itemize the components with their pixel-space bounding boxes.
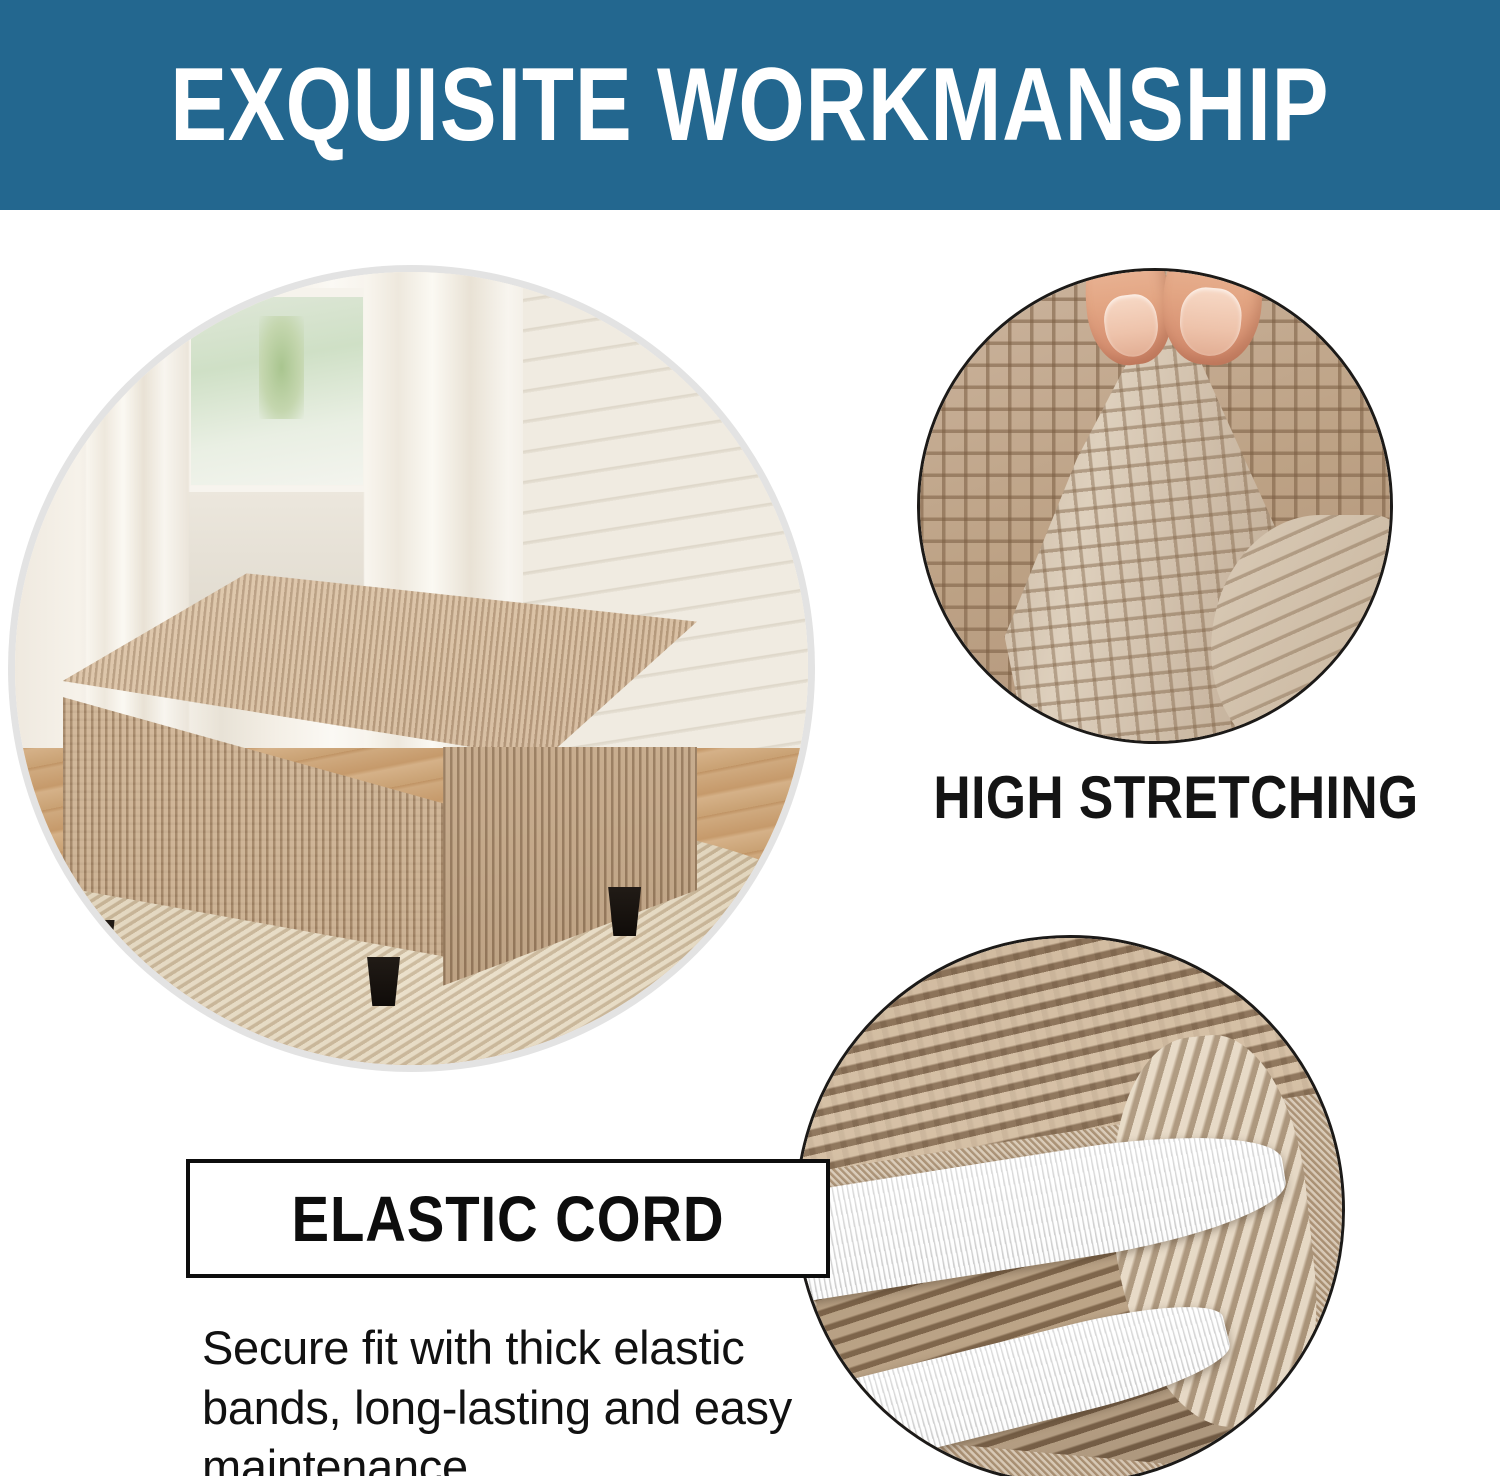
living-room-scene [15,272,808,1065]
ottoman-leg [367,957,400,1006]
header-banner: EXQUISITE WORKMANSHIP [0,0,1500,210]
fingernail-icon [1177,285,1244,358]
main-product-photo [15,272,808,1065]
ottoman-with-slipcover [63,573,697,985]
window-icon [182,288,372,494]
elastic-cord-label: ELASTIC CORD [292,1182,725,1256]
elastic-cord-photo [795,935,1345,1476]
elastic-cord-label-box: ELASTIC CORD [186,1159,830,1278]
page-title: EXQUISITE WORKMANSHIP [170,53,1329,157]
elastic-cord-description: Secure fit with thick elastic bands, lon… [202,1318,842,1476]
high-stretching-photo [917,268,1393,744]
ottoman-side-panel [443,747,697,986]
infographic-page: EXQUISITE WORKMANSHIP [0,0,1500,1476]
high-stretching-label: HIGH STRETCHING [933,763,1380,832]
ottoman-leg [82,920,115,969]
ottoman-leg [608,887,641,936]
fingernail-icon [1101,291,1161,359]
